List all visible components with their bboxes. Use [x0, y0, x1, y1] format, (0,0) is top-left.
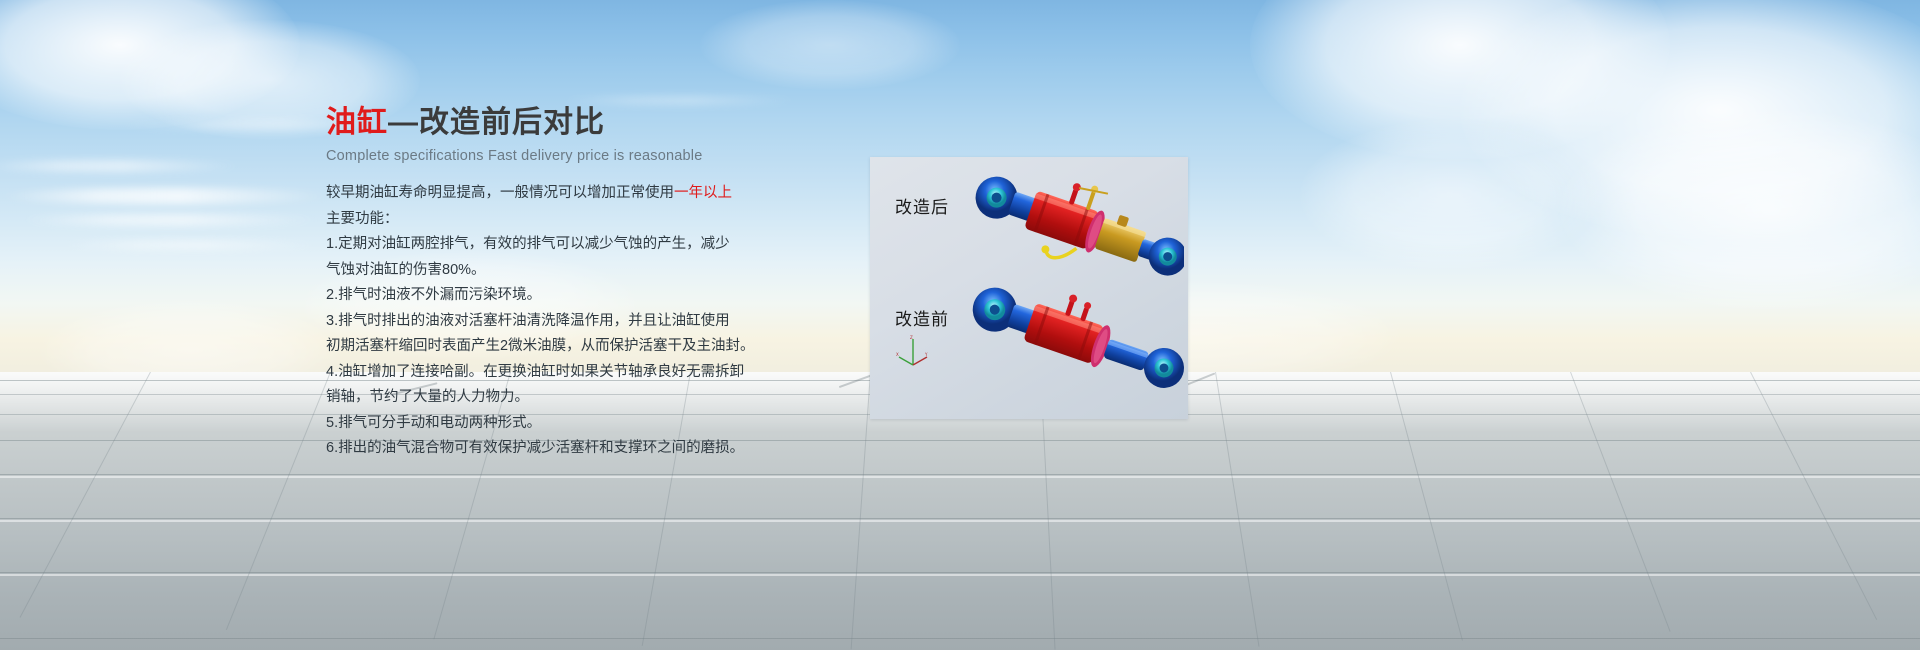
- page-title: 油缸—改造前后对比: [326, 106, 746, 140]
- label-after-modification: 改造后: [895, 193, 949, 218]
- body-line-intro-1: 较早期油缸寿命明显提高，一般情况可以增加正常使用一年以上: [326, 181, 746, 207]
- body-line-item-4b: 销轴，节约了大量的人力物力。: [326, 385, 746, 411]
- body-line-item-2: 2.排气时油液不外漏而污染环境。: [326, 283, 746, 309]
- body-line-item-3a: 3.排气时排出的油液对活塞杆油清洗降温作用，并且让油缸使用: [326, 309, 746, 335]
- body-line-item-5: 5.排气可分手动和电动两种形式。: [326, 411, 746, 437]
- body-line-item-1b: 气蚀对油缸的伤害80%。: [326, 258, 746, 284]
- svg-text:X: X: [896, 352, 899, 357]
- body-text-accent: 一年以上: [674, 185, 732, 201]
- svg-text:Z: Z: [910, 335, 913, 340]
- svg-text:Y: Y: [924, 352, 928, 357]
- body-line-item-3b: 初期活塞杆缩回时表面产生2微米油膜，从而保护活塞干及主油封。: [326, 334, 746, 360]
- product-comparison-panel: 改造后 改造前 Z X Y: [870, 157, 1188, 419]
- page-title-highlight: 油缸: [326, 106, 388, 139]
- label-before-modification: 改造前: [895, 305, 949, 330]
- coordinate-axis-icon: Z X Y: [896, 335, 930, 367]
- banner-content: 油缸—改造前后对比 Complete specifications Fast d…: [0, 0, 1920, 650]
- body-line-item-6: 6.排出的油气混合物可有效保护减少活塞杆和支撑环之间的磨损。: [326, 436, 746, 462]
- page-title-rest: —改造前后对比: [388, 106, 605, 139]
- body-copy: 较早期油缸寿命明显提高，一般情况可以增加正常使用一年以上 主要功能： 1.定期对…: [326, 181, 746, 462]
- body-line-item-4a: 4.油缸增加了连接哈副。在更换油缸时如果关节轴承良好无需拆卸: [326, 360, 746, 386]
- hydraulic-cylinder-before: [966, 279, 1188, 397]
- body-text: 较早期油缸寿命明显提高，一般情况可以增加正常使用: [326, 185, 674, 201]
- body-line-item-1a: 1.定期对油缸两腔排气，有效的排气可以减少气蚀的产生，减少: [326, 232, 746, 258]
- page-subtitle: Complete specifications Fast delivery pr…: [326, 147, 746, 165]
- text-column: 油缸—改造前后对比 Complete specifications Fast d…: [326, 106, 746, 462]
- body-line-intro-2: 主要功能：: [326, 207, 746, 233]
- hydraulic-cylinder-after: [968, 169, 1184, 281]
